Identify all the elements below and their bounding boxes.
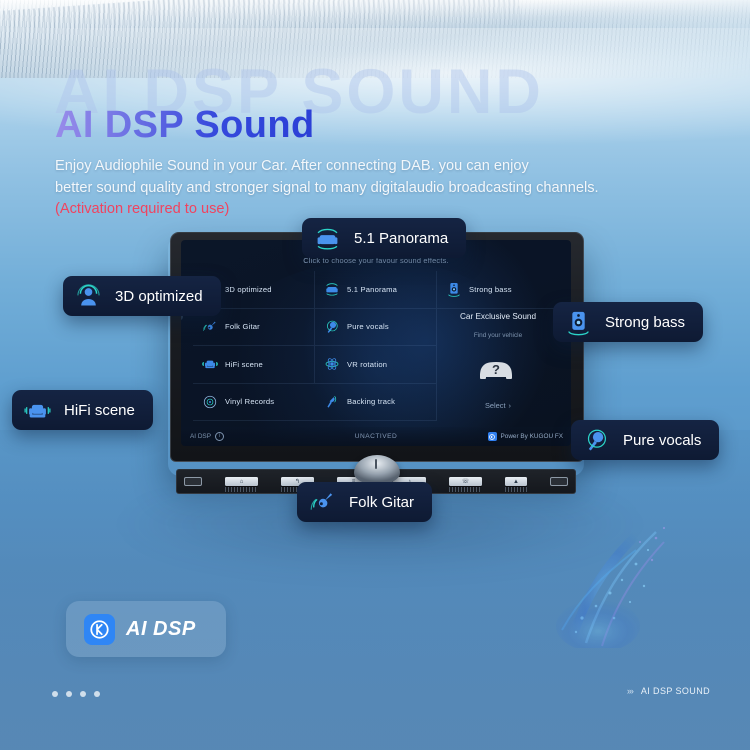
callout-pill-label: Strong bass [605,314,685,331]
exclusive-subtitle: Find your vehicle [474,332,522,339]
effect-label: VR rotation [347,360,387,369]
guitar-icon [309,489,336,516]
screen-footer-right: Power By KUGOU FX [488,432,564,441]
exclusive-select-button[interactable]: Select › [485,401,511,410]
callout-pill-hifi-scene[interactable]: HiFi scene [12,390,153,430]
kugou-k-icon [84,614,115,645]
subwoofer-icon [446,281,462,297]
armchair-icon [24,397,51,424]
hero-description-line-1: Enjoy Audiophile Sound in your Car. Afte… [55,155,745,177]
home-button[interactable]: ⌂ [225,477,258,486]
effect-label: Folk Gitar [225,322,260,331]
callout-pill-51-panorama[interactable]: 5.1 Panorama [302,218,466,258]
phone-button[interactable]: ☏ [449,477,482,486]
page-title: AI DSP Sound [55,104,315,147]
eject-button[interactable]: ▲ [505,477,527,486]
effect-label: 3D optimized [225,285,272,294]
callout-pill-folk-gitar[interactable]: Folk Gitar [297,482,432,522]
chevron-right-icon: › [509,401,511,410]
callout-pill-label: Folk Gitar [349,494,414,511]
effect-cell-strong-bass[interactable]: Strong bass [437,271,559,309]
effect-label: Pure vocals [347,322,389,331]
atom-orbit-icon [324,356,340,372]
usb-port [184,477,202,486]
volume-knob[interactable] [354,455,400,485]
car-seat-surround-icon [314,225,341,252]
callout-pill-pure-vocals[interactable]: Pure vocals [571,420,719,460]
subwoofer-icon [565,309,592,336]
car-seat-surround-icon [324,281,340,297]
effect-label: Backing track [347,397,395,406]
microphone-icon [324,319,340,335]
car-question-icon: ? [476,355,520,383]
brand-badge[interactable]: AI DSP [66,601,226,657]
footer-label: AI DSP SOUND [641,686,710,696]
callout-pill-label: Pure vocals [623,432,701,449]
callout-pill-strong-bass[interactable]: Strong bass [553,302,703,342]
callout-pill-label: HiFi scene [64,402,135,419]
exclusive-select-label: Select [485,401,506,410]
hero-description-line-2: better sound quality and stronger signal… [55,177,745,199]
chevrons-right-icon: ››› [627,686,633,696]
page-dot[interactable] [52,691,58,697]
pagination-dots[interactable] [52,691,100,697]
effect-cell-51-panorama[interactable]: 5.1 Panorama [315,271,437,309]
callout-pill-label: 5.1 Panorama [354,230,448,247]
page-dot[interactable] [80,691,86,697]
sd-card-slot [550,477,568,486]
svg-text:?: ? [492,362,500,377]
brand-badge-label: AI DSP [126,618,196,641]
kugou-icon [488,432,497,441]
callout-pill-label: 3D optimized [115,288,203,305]
effect-cell-hifi-scene[interactable]: HiFi scene [193,346,315,384]
guitar-icon [202,319,218,335]
effect-label: Strong bass [469,285,512,294]
head-unit-screen[interactable]: AI DSP Click to choose your favour sound… [181,240,571,446]
effect-cell-vr-rotation[interactable]: VR rotation [315,346,437,384]
effect-label: Vinyl Records [225,397,274,406]
exclusive-title: Car Exclusive Sound [460,312,536,321]
effect-cell-vinyl-records[interactable]: Vinyl Records [193,384,315,422]
effect-label: 5.1 Panorama [347,285,397,294]
slide-root: AI DSP SOUND AI DSP Sound Enjoy Audiophi… [0,0,750,750]
audio-particle-visual [552,498,712,648]
powered-by-label: Power By KUGOU FX [501,433,564,440]
effect-label: HiFi scene [225,360,263,369]
vinyl-record-icon [202,394,218,410]
screen-status-bar: AI DSP i UNACTIVED Power By KUGOU FX [181,427,571,446]
page-dot[interactable] [66,691,72,697]
activation-note: (Activation required to use) [55,199,229,219]
person-headphones-icon [75,283,102,310]
mic-wave-icon [324,394,340,410]
callout-pill-3d-optimized[interactable]: 3D optimized [63,276,221,316]
footer-link[interactable]: ››› AI DSP SOUND [627,686,710,696]
armchair-icon [202,356,218,372]
microphone-icon [583,427,610,454]
hero-description: Enjoy Audiophile Sound in your Car. Afte… [55,155,745,199]
effects-grid: 3D optimized 5.1 Panorama [193,271,559,421]
effect-cell-pure-vocals[interactable]: Pure vocals [315,309,437,347]
car-exclusive-sound-panel[interactable]: Car Exclusive Sound Find your vehicle ? … [437,309,559,422]
page-dot[interactable] [94,691,100,697]
effect-cell-backing-track[interactable]: Backing track [315,384,437,422]
